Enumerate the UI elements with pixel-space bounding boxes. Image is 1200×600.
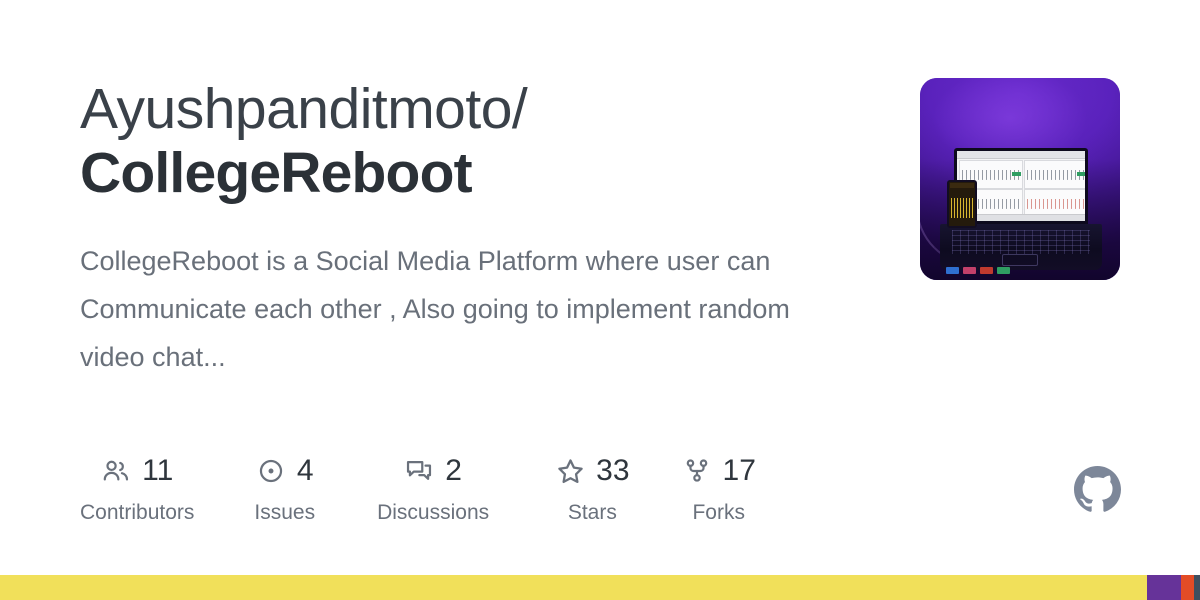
stat-forks-value: 17 <box>723 456 756 486</box>
repository-description: CollegeReboot is a Social Media Platform… <box>80 206 820 381</box>
thumbnail-sticker <box>980 267 993 274</box>
page-title: Ayushpanditmoto/ CollegeReboot <box>80 78 880 206</box>
star-icon <box>555 456 585 486</box>
thumbnail-price-tag <box>1077 172 1085 176</box>
thumbnail-trackpad <box>1002 254 1038 266</box>
thumbnail-phone <box>947 180 977 228</box>
stat-contributors-top: 11 <box>101 452 173 490</box>
github-mark-icon <box>1074 466 1121 513</box>
stat-contributors-label: Contributors <box>80 501 194 525</box>
thumbnail-phone-screen <box>949 182 975 226</box>
stat-stars-top: 33 <box>555 452 629 490</box>
thumbnail-phone-chart <box>951 198 973 218</box>
thumbnail-keyboard <box>952 230 1090 254</box>
thumbnail-phone-header <box>950 183 974 188</box>
language-segment-dark <box>1194 575 1200 600</box>
thumbnail-candles <box>1027 196 1085 214</box>
thumbnail-laptop <box>940 148 1102 272</box>
stat-discussions-label: Discussions <box>377 501 489 525</box>
stat-stars[interactable]: 33 Stars <box>555 452 629 525</box>
thumbnail-photo <box>920 78 1120 280</box>
stat-discussions-value: 2 <box>445 456 462 486</box>
repository-stats: 11 Contributors 4 Issues <box>80 452 756 525</box>
repository-header: Ayushpanditmoto/ CollegeReboot CollegeRe… <box>80 78 880 381</box>
stat-forks-label: Forks <box>692 501 745 525</box>
stat-stars-value: 33 <box>596 456 629 486</box>
stat-discussions-top: 2 <box>404 452 462 490</box>
language-segment-purple <box>1147 575 1181 600</box>
thumbnail-price-tag <box>1012 172 1021 176</box>
repository-thumbnail-image <box>920 78 1120 280</box>
thumbnail-screen-toolbar <box>957 151 1085 159</box>
stat-discussions[interactable]: 2 Discussions <box>377 452 489 525</box>
thumbnail-candles <box>1027 167 1085 185</box>
stat-contributors[interactable]: 11 Contributors <box>80 452 194 525</box>
stat-contributors-value: 11 <box>142 456 173 486</box>
stat-forks-top: 17 <box>682 452 756 490</box>
people-icon <box>101 456 131 486</box>
stat-issues-label: Issues <box>254 501 315 525</box>
thumbnail-chart-panel <box>1024 160 1085 189</box>
thumbnail-sticker <box>946 267 959 274</box>
issue-opened-icon <box>256 456 286 486</box>
stat-issues[interactable]: 4 Issues <box>254 452 315 525</box>
repository-social-preview-card: Ayushpanditmoto/ CollegeReboot CollegeRe… <box>0 0 1200 600</box>
language-breakdown-bar <box>0 575 1200 600</box>
repository-owner[interactable]: Ayushpanditmoto/ <box>80 78 880 142</box>
stat-stars-label: Stars <box>568 501 617 525</box>
thumbnail-sticker <box>997 267 1010 274</box>
language-segment-orange <box>1181 575 1194 600</box>
repo-forked-icon <box>682 456 712 486</box>
repository-name[interactable]: CollegeReboot <box>80 142 880 206</box>
stat-issues-value: 4 <box>297 456 314 486</box>
language-segment-javascript <box>0 575 1147 600</box>
comment-discussion-icon <box>404 456 434 486</box>
stat-forks[interactable]: 17 Forks <box>682 452 756 525</box>
thumbnail-stickers <box>946 267 1010 274</box>
stat-issues-top: 4 <box>256 452 314 490</box>
thumbnail-laptop-base <box>940 224 1102 270</box>
thumbnail-sticker <box>963 267 976 274</box>
